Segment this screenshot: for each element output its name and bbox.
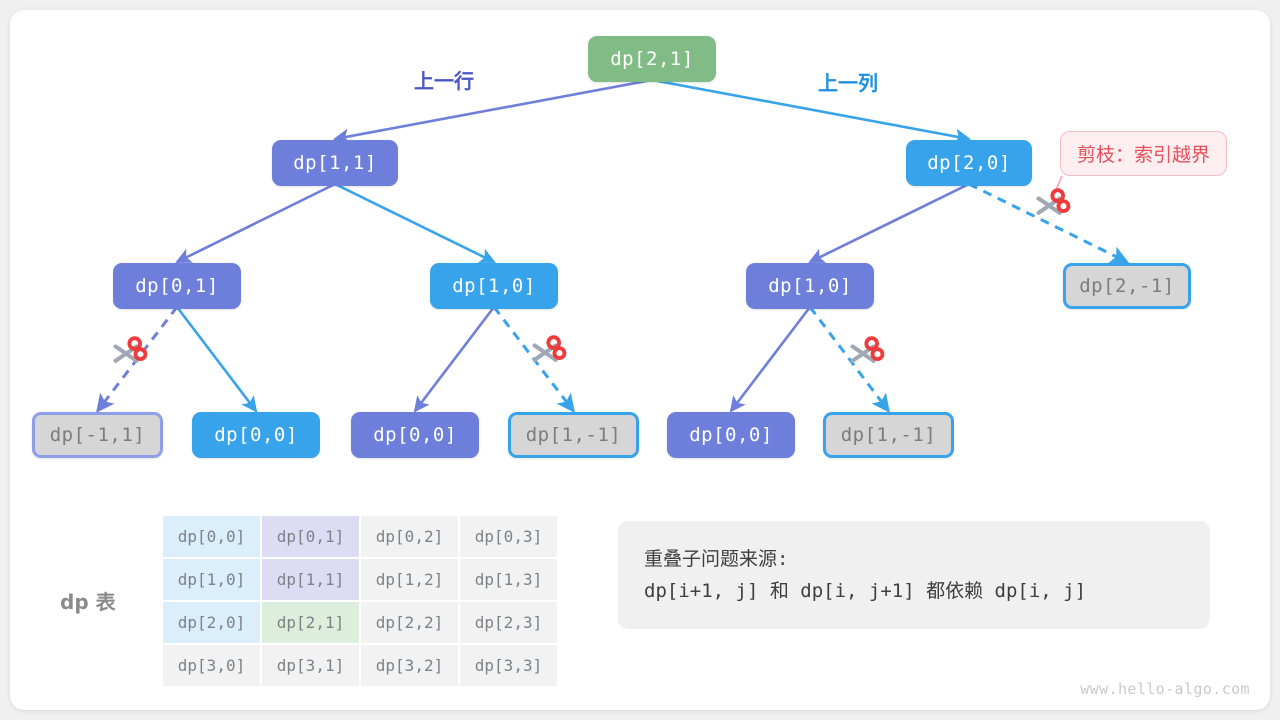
edge-label-col-label: 上一列 <box>818 67 878 96</box>
tree-node-l3b: dp[0,0] <box>192 412 320 458</box>
tree-node-label: dp[0,0] <box>373 424 457 446</box>
tree-node-label: dp[0,0] <box>214 424 298 446</box>
dp-table-row: dp[0,0]dp[0,1]dp[0,2]dp[0,3] <box>163 516 557 557</box>
dp-table-cell: dp[1,0] <box>163 559 260 600</box>
tree-node-l1a: dp[1,1] <box>272 140 398 186</box>
tree-edge-l1a-to-l2b <box>335 184 494 262</box>
tree-node-label: dp[-1,1] <box>50 424 146 446</box>
tree-node-label: dp[1,-1] <box>526 424 622 446</box>
prune-callout-text: 剪枝：索引越界 <box>1077 144 1210 166</box>
tree-node-label: dp[2,-1] <box>1079 275 1175 297</box>
dp-table-cell: dp[2,2] <box>361 602 458 643</box>
dp-table-cell: dp[0,0] <box>163 516 260 557</box>
tree-edge-l1b-to-l2c <box>810 184 969 262</box>
tree-edge-l2b-to-l3c <box>415 307 494 411</box>
watermark: www.hello-algo.com <box>1080 680 1250 698</box>
dp-table: dp[0,0]dp[0,1]dp[0,2]dp[0,3]dp[1,0]dp[1,… <box>161 514 559 688</box>
tree-node-l1b: dp[2,0] <box>906 140 1032 186</box>
tree-node-label: dp[2,0] <box>927 152 1011 174</box>
tree-edge-root-to-l1b <box>652 80 969 139</box>
tree-node-label: dp[1,0] <box>768 275 852 297</box>
dp-table-row: dp[3,0]dp[3,1]dp[3,2]dp[3,3] <box>163 645 557 686</box>
scissors-icon-prune-3 <box>524 333 570 379</box>
edge-label-row-label: 上一行 <box>414 65 474 94</box>
diagram-stage: dp[2,1]dp[1,1]dp[2,0]dp[0,1]dp[1,0]dp[1,… <box>10 10 1270 710</box>
dp-table-cell: dp[2,3] <box>460 602 557 643</box>
dp-table-cell: dp[0,1] <box>262 516 359 557</box>
note-box: 重叠子问题来源: dp[i+1, j] 和 dp[i, j+1] 都依赖 dp[… <box>618 521 1210 629</box>
dp-table-cell: dp[3,2] <box>361 645 458 686</box>
dp-table-cell: dp[0,3] <box>460 516 557 557</box>
scissors-icon-prune-1 <box>1028 186 1074 232</box>
dp-table-cell: dp[3,3] <box>460 645 557 686</box>
scissors-icon-prune-4 <box>842 334 888 380</box>
scissors-icon-prune-2 <box>105 334 151 380</box>
prune-callout: 剪枝：索引越界 <box>1060 131 1227 176</box>
tree-node-label: dp[0,0] <box>689 424 773 446</box>
dp-table-cell: dp[1,2] <box>361 559 458 600</box>
tree-node-l3e: dp[0,0] <box>667 412 795 458</box>
note-line-2: dp[i+1, j] 和 dp[i, j+1] 都依赖 dp[i, j] <box>644 575 1184 607</box>
tree-edge-l1a-to-l2a <box>177 184 335 262</box>
tree-node-l3a: dp[-1,1] <box>32 412 163 458</box>
tree-node-l3c: dp[0,0] <box>351 412 479 458</box>
dp-table-cell: dp[1,1] <box>262 559 359 600</box>
tree-node-label: dp[2,1] <box>610 48 694 70</box>
tree-node-l2a: dp[0,1] <box>113 263 241 309</box>
tree-node-l3d: dp[1,-1] <box>508 412 639 458</box>
dp-table-row: dp[1,0]dp[1,1]dp[1,2]dp[1,3] <box>163 559 557 600</box>
tree-edges <box>98 80 1128 411</box>
tree-edge-l2c-to-l3e <box>731 307 810 411</box>
dp-table-cell: dp[1,3] <box>460 559 557 600</box>
tree-node-label: dp[1,-1] <box>841 424 937 446</box>
tree-node-label: dp[0,1] <box>135 275 219 297</box>
note-line-1: 重叠子问题来源: <box>644 543 1184 575</box>
tree-node-l3f: dp[1,-1] <box>823 412 954 458</box>
tree-node-label: dp[1,0] <box>452 275 536 297</box>
tree-node-l2c: dp[1,0] <box>746 263 874 309</box>
tree-node-label: dp[1,1] <box>293 152 377 174</box>
dp-table-cell: dp[3,1] <box>262 645 359 686</box>
dp-table-cell: dp[3,0] <box>163 645 260 686</box>
dp-table-cell: dp[2,1] <box>262 602 359 643</box>
tree-node-l2d: dp[2,-1] <box>1063 263 1191 309</box>
dp-table-caption: dp 表 <box>60 586 116 615</box>
dp-table-cell: dp[0,2] <box>361 516 458 557</box>
tree-node-l2b: dp[1,0] <box>430 263 558 309</box>
dp-table-row: dp[2,0]dp[2,1]dp[2,2]dp[2,3] <box>163 602 557 643</box>
tree-edge-l2a-to-l3b <box>177 307 256 411</box>
dp-table-cell: dp[2,0] <box>163 602 260 643</box>
diagram-card: dp[2,1]dp[1,1]dp[2,0]dp[0,1]dp[1,0]dp[1,… <box>10 10 1270 710</box>
tree-edge-root-to-l1a <box>335 80 652 139</box>
tree-node-root: dp[2,1] <box>588 36 716 82</box>
